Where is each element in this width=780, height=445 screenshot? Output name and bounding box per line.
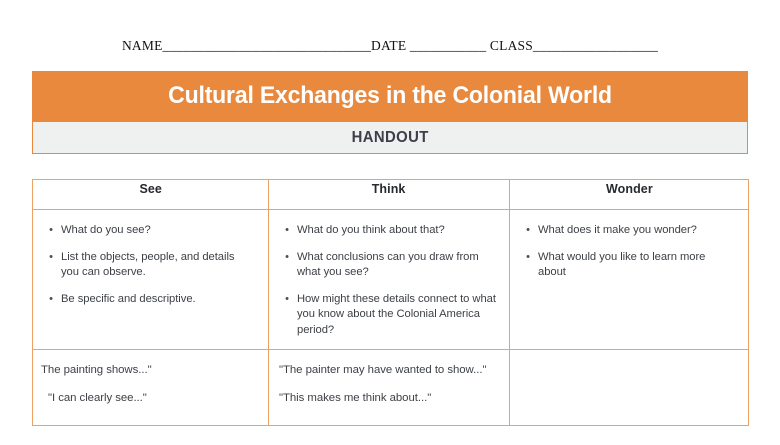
sentence-starter: The painting shows..." <box>41 363 258 378</box>
prompt-text: What conclusions can you draw from what … <box>297 250 496 281</box>
starter-list-see: The painting shows..." "I can clearly se… <box>33 350 268 406</box>
student-info-line: NAME______________________________DATE _… <box>0 38 780 54</box>
sentence-starter: "The painter may have wanted to show..." <box>279 363 499 378</box>
prompts-cell-wonder: • What does it make you wonder? • What w… <box>510 210 749 350</box>
prompts-cell-see: • What do you see? • List the objects, p… <box>33 210 269 350</box>
column-header-see: See <box>33 180 269 210</box>
sentence-starter: "This makes me think about..." <box>279 391 499 406</box>
list-item: • Be specific and descriptive. <box>41 292 258 308</box>
prompt-text: What does it make you wonder? <box>538 223 735 239</box>
sentence-starter: "I can clearly see..." <box>41 391 258 406</box>
list-item: • What would you like to learn more abou… <box>518 250 738 281</box>
bullet-icon: • <box>518 223 538 239</box>
title-banner: Cultural Exchanges in the Colonial World <box>32 71 748 121</box>
bullet-icon: • <box>41 292 61 308</box>
list-item: • What do you see? <box>41 223 258 239</box>
prompts-cell-think: • What do you think about that? • What c… <box>269 210 510 350</box>
bullet-icon: • <box>518 250 538 266</box>
bullet-icon: • <box>277 223 297 239</box>
list-item: • What conclusions can you draw from wha… <box>277 250 499 281</box>
prompt-text: What would you like to learn more about <box>538 250 735 281</box>
prompt-text: List the objects, people, and details yo… <box>61 250 255 281</box>
prompt-text: What do you see? <box>61 223 255 239</box>
list-item: • List the objects, people, and details … <box>41 250 258 281</box>
column-header-wonder-label: Wonder <box>606 181 653 196</box>
list-item: • What does it make you wonder? <box>518 223 738 239</box>
page-title: Cultural Exchanges in the Colonial World <box>168 82 612 110</box>
starters-cell-think[interactable]: "The painter may have wanted to show..."… <box>269 350 510 426</box>
bullet-icon: • <box>277 292 297 308</box>
list-item: • What do you think about that? <box>277 223 499 239</box>
column-header-think: Think <box>269 180 510 210</box>
starter-list-think: "The painter may have wanted to show..."… <box>269 350 509 406</box>
starters-cell-wonder[interactable] <box>510 350 749 426</box>
handout-subtitle-label: HANDOUT <box>351 129 428 147</box>
table-prompts-row: • What do you see? • List the objects, p… <box>33 210 749 350</box>
see-think-wonder-table: See Think Wonder • What do you see? • <box>32 179 749 426</box>
table-header-row: See Think Wonder <box>33 180 749 210</box>
starters-cell-see[interactable]: The painting shows..." "I can clearly se… <box>33 350 269 426</box>
starter-list-wonder <box>510 350 748 363</box>
bullet-icon: • <box>41 223 61 239</box>
table-sentence-starters-row: The painting shows..." "I can clearly se… <box>33 350 749 426</box>
student-info-text: NAME______________________________DATE _… <box>122 38 658 53</box>
prompt-text: What do you think about that? <box>297 223 496 239</box>
bullet-icon: • <box>41 250 61 266</box>
prompt-text: How might these details connect to what … <box>297 292 496 339</box>
prompt-list-see: • What do you see? • List the objects, p… <box>33 210 268 307</box>
column-header-see-label: See <box>139 181 162 196</box>
column-header-think-label: Think <box>372 181 406 196</box>
prompt-text: Be specific and descriptive. <box>61 292 255 308</box>
column-header-wonder: Wonder <box>510 180 749 210</box>
prompt-list-wonder: • What does it make you wonder? • What w… <box>510 210 748 281</box>
list-item: • How might these details connect to wha… <box>277 292 499 339</box>
handout-subtitle-bar: HANDOUT <box>32 121 748 154</box>
prompt-list-think: • What do you think about that? • What c… <box>269 210 509 338</box>
bullet-icon: • <box>277 250 297 266</box>
